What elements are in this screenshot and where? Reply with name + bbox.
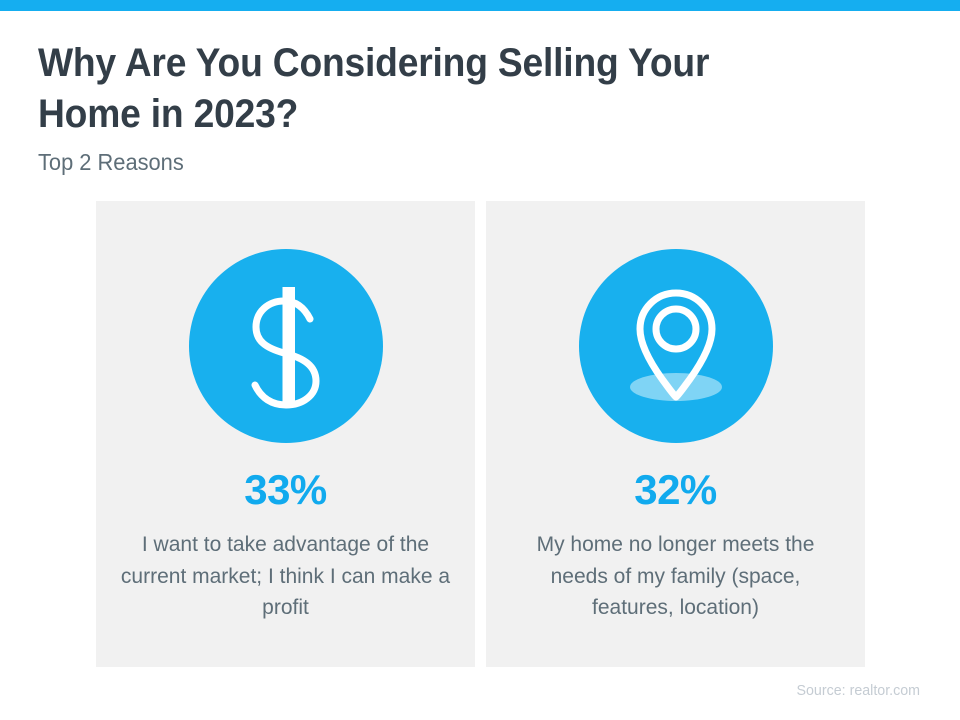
source-note: Source: realtor.com: [796, 682, 920, 699]
top-accent-bar: [0, 0, 960, 11]
dollar-sign-icon-badge: [189, 249, 383, 443]
stat-value-1: 33%: [96, 466, 475, 514]
reason-card-group: 33% I want to take advantage of the curr…: [96, 201, 866, 667]
page-subtitle: Top 2 Reasons: [38, 140, 817, 176]
dollar-sign-icon: [234, 281, 338, 411]
page-title: Why Are You Considering Selling Your Hom…: [38, 38, 801, 140]
map-pin-icon: [616, 281, 736, 411]
stat-description-1: I want to take advantage of the current …: [96, 529, 475, 624]
reason-card-1: 33% I want to take advantage of the curr…: [96, 201, 475, 667]
header: Why Are You Considering Selling Your Hom…: [38, 38, 858, 176]
reason-card-2: 32% My home no longer meets the needs of…: [486, 201, 865, 667]
stat-description-2: My home no longer meets the needs of my …: [486, 529, 865, 624]
map-pin-icon-badge: [579, 249, 773, 443]
stat-value-2: 32%: [486, 466, 865, 514]
